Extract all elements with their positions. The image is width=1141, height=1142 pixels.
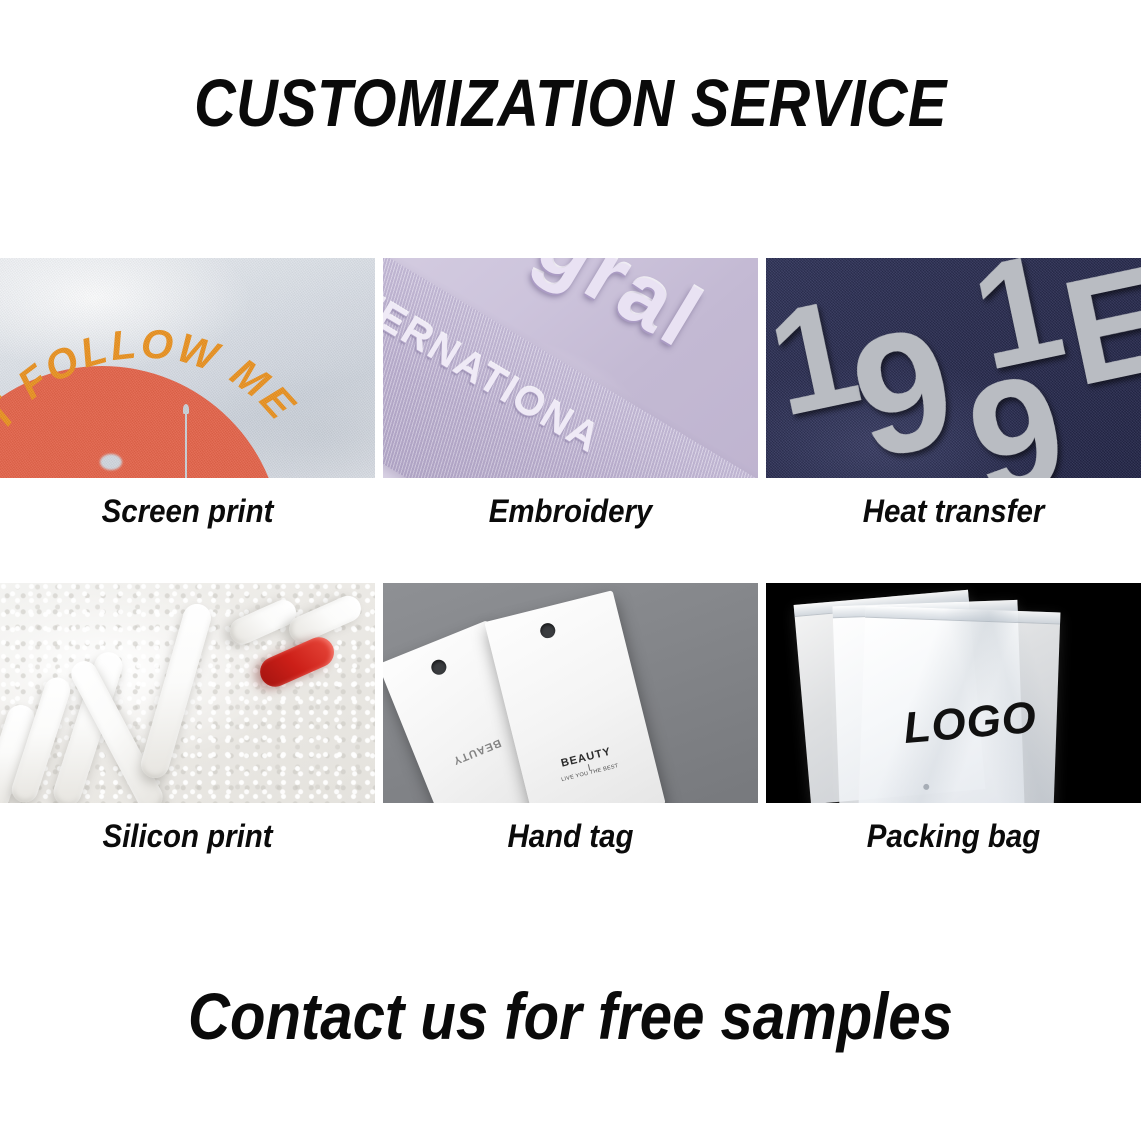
screen-print-artwork-text: N'T FOLLOW ME: [0, 304, 304, 478]
service-caption: Hand tag: [398, 803, 743, 852]
service-card-packing-bag[interactable]: LOGO Packing bag: [766, 583, 1141, 852]
hand-tag-image: BEAUTY BEAUTY LIVE YOU THE BEST: [383, 583, 758, 803]
service-caption: Packing bag: [781, 803, 1126, 852]
packing-bag-logo-text: LOGO: [902, 696, 1039, 751]
service-grid: N'T FOLLOW ME Screen print gral TERNATIO…: [0, 258, 1141, 852]
service-caption: Screen print: [15, 478, 360, 527]
silicon-print-image: [0, 583, 375, 803]
packing-bag-front: LOGO: [859, 606, 1061, 803]
service-card-screen-print[interactable]: N'T FOLLOW ME Screen print: [0, 258, 375, 527]
svg-text:N'T FOLLOW ME: N'T FOLLOW ME: [0, 320, 304, 477]
embroidery-image: gral TERNATIONA: [383, 258, 758, 478]
service-caption: Silicon print: [15, 803, 360, 852]
service-caption: Embroidery: [398, 478, 743, 527]
screen-print-fabric-fleck: [100, 454, 122, 470]
screen-print-needle-detail: [185, 410, 187, 478]
heat-transfer-image: 1 9 1 9 E: [766, 258, 1141, 478]
page-title: CUSTOMIZATION SERVICE: [80, 70, 1061, 137]
service-caption: Heat transfer: [781, 478, 1126, 527]
hang-tag-hole: [429, 657, 449, 677]
service-card-heat-transfer[interactable]: 1 9 1 9 E Heat transfer: [766, 258, 1141, 527]
service-card-hand-tag[interactable]: BEAUTY BEAUTY LIVE YOU THE BEST Hand tag: [383, 583, 758, 852]
service-row-bottom: Silicon print BEAUTY BEAUTY LIVE YOU THE…: [0, 583, 1141, 852]
service-row-top: N'T FOLLOW ME Screen print gral TERNATIO…: [0, 258, 1141, 527]
customization-service-banner: CUSTOMIZATION SERVICE N'T FOLLOW ME: [0, 0, 1141, 1142]
service-card-silicon-print[interactable]: Silicon print: [0, 583, 375, 852]
grid-row-gap: [0, 527, 1141, 583]
hang-tag-hole: [539, 622, 557, 640]
service-card-embroidery[interactable]: gral TERNATIONA Embroidery: [383, 258, 758, 527]
packing-bag-image: LOGO: [766, 583, 1141, 803]
call-to-action-text: Contact us for free samples: [68, 983, 1072, 1049]
screen-print-image: N'T FOLLOW ME: [0, 258, 375, 478]
packing-bag-vent-hole: [923, 784, 929, 790]
embroidery-text-large: gral: [520, 258, 720, 368]
